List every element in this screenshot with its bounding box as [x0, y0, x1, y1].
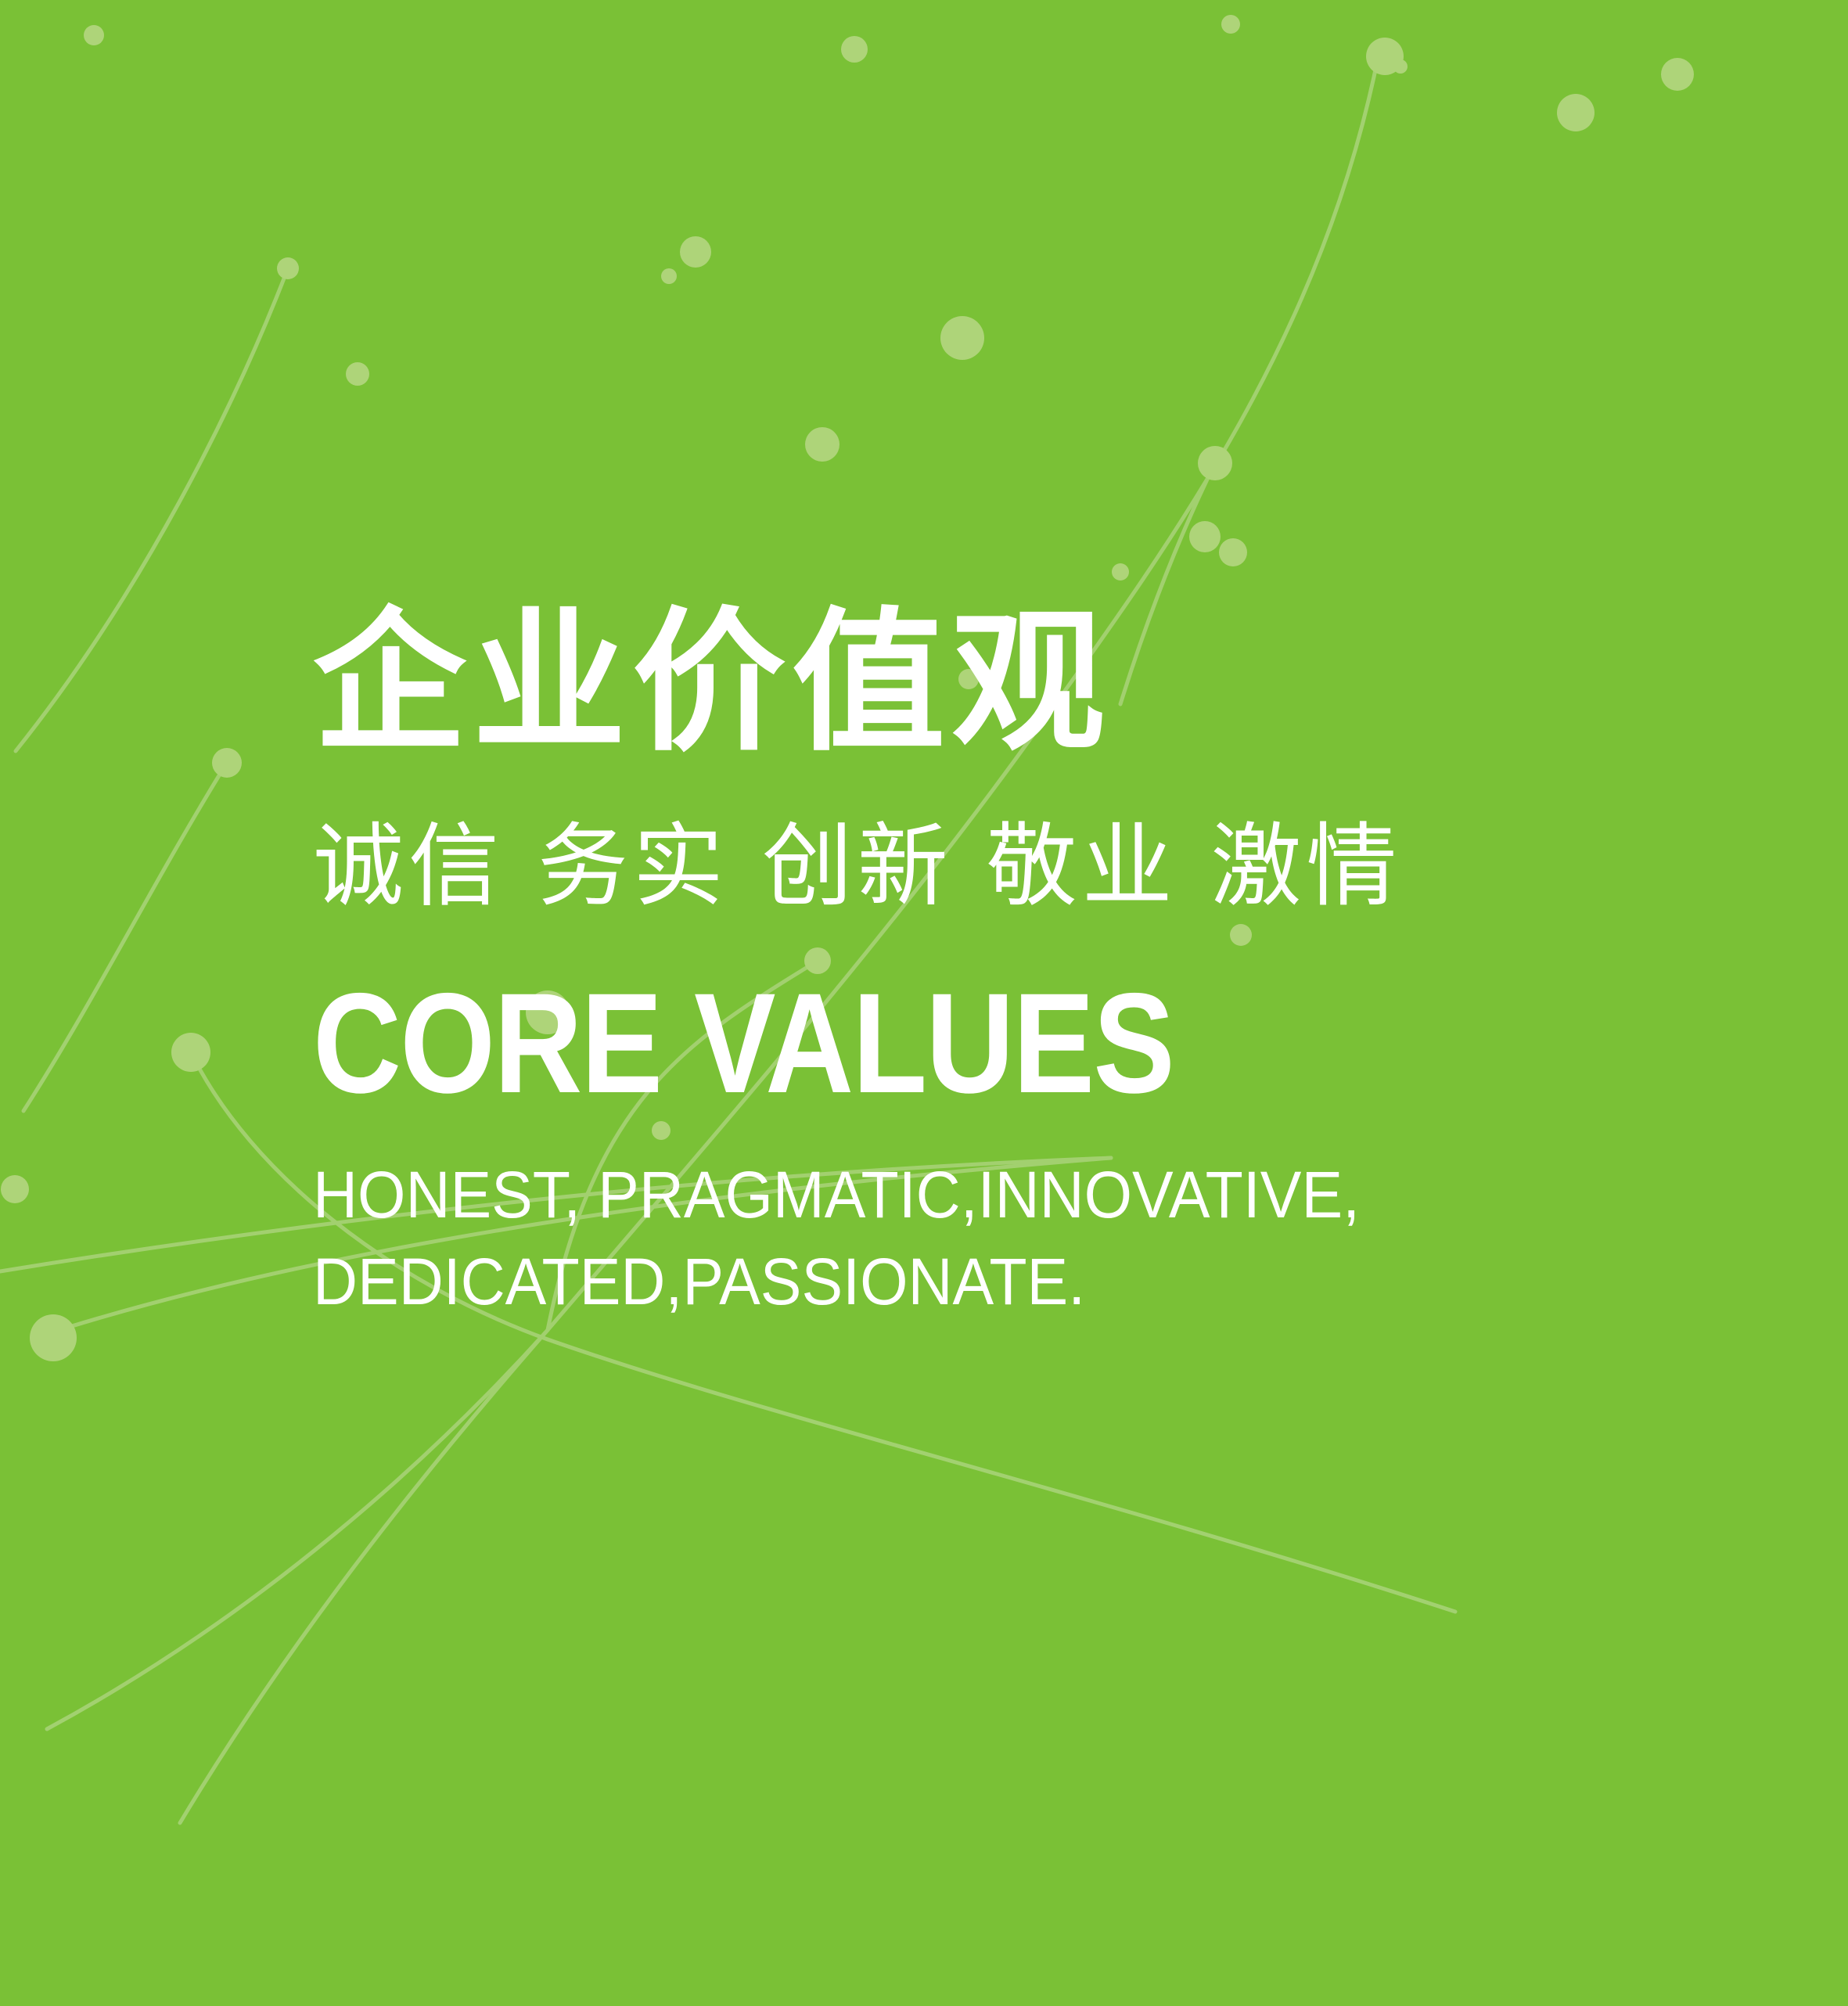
network-dot-14	[1189, 521, 1221, 552]
text-block: 企业价值观 诚信 务实 创新 敬业 激情 CORE VALUES HONEST,…	[313, 595, 1721, 1325]
network-dot-15	[1219, 538, 1247, 566]
network-dot-13	[1198, 446, 1232, 480]
network-curve-6	[548, 1339, 1455, 1612]
network-dot-24	[1, 1175, 29, 1203]
network-dot-18	[1112, 563, 1129, 581]
network-dot-4	[1393, 59, 1408, 74]
network-curve-3	[16, 268, 288, 751]
network-dot-7	[277, 257, 299, 279]
page-title-english: CORE VALUES	[313, 972, 1524, 1114]
subtitle-english-line-2: DEDICATED,PASSIONATE.	[313, 1238, 1637, 1325]
network-dot-6	[1557, 94, 1595, 131]
network-dot-8	[680, 236, 711, 268]
network-curve-4	[23, 763, 227, 1111]
network-dot-19	[171, 1033, 210, 1072]
network-dot-12	[346, 362, 369, 386]
network-dot-1	[1221, 15, 1240, 34]
subtitle-english-line-1: HONEST, PRAGMATIC,INNOVATIVE,	[313, 1152, 1637, 1238]
network-dot-23	[30, 1314, 77, 1361]
subtitle-english-block: HONEST, PRAGMATIC,INNOVATIVE, DEDICATED,…	[313, 1152, 1721, 1325]
subtitle-chinese-values: 诚信 务实 创新 敬业 激情	[313, 810, 1721, 923]
network-dot-16	[212, 748, 242, 778]
network-dot-9	[661, 268, 677, 284]
network-dot-2	[1366, 38, 1404, 75]
network-dot-0	[84, 25, 104, 45]
network-dot-10	[940, 316, 984, 360]
network-dot-3	[1661, 58, 1694, 91]
core-values-poster: 企业价值观 诚信 务实 创新 敬业 激情 CORE VALUES HONEST,…	[0, 0, 1848, 2006]
network-curve-9	[180, 1330, 548, 1823]
network-dot-11	[805, 427, 840, 462]
network-curve-2	[47, 1330, 548, 1729]
network-dot-5	[841, 36, 868, 63]
page-title-chinese: 企业价值观	[313, 595, 1721, 772]
